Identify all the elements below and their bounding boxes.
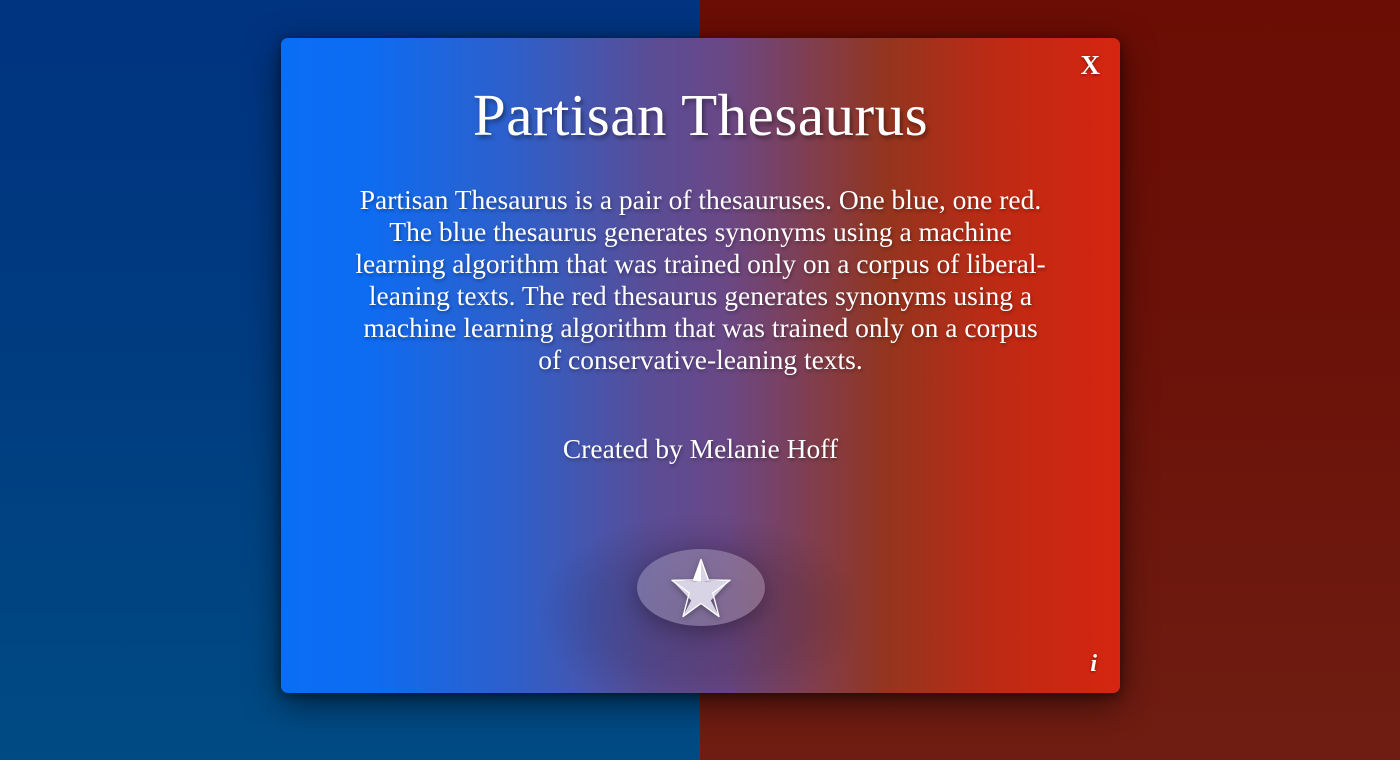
- page-title: Partisan Thesaurus: [321, 84, 1080, 148]
- creator-credit: Created by Melanie Hoff: [321, 433, 1080, 465]
- about-description: Partisan Thesaurus is a pair of thesauru…: [351, 184, 1051, 376]
- nautical-star-icon: [670, 558, 732, 618]
- star-button[interactable]: [637, 549, 765, 626]
- about-modal: X Partisan Thesaurus Partisan Thesaurus …: [281, 38, 1120, 693]
